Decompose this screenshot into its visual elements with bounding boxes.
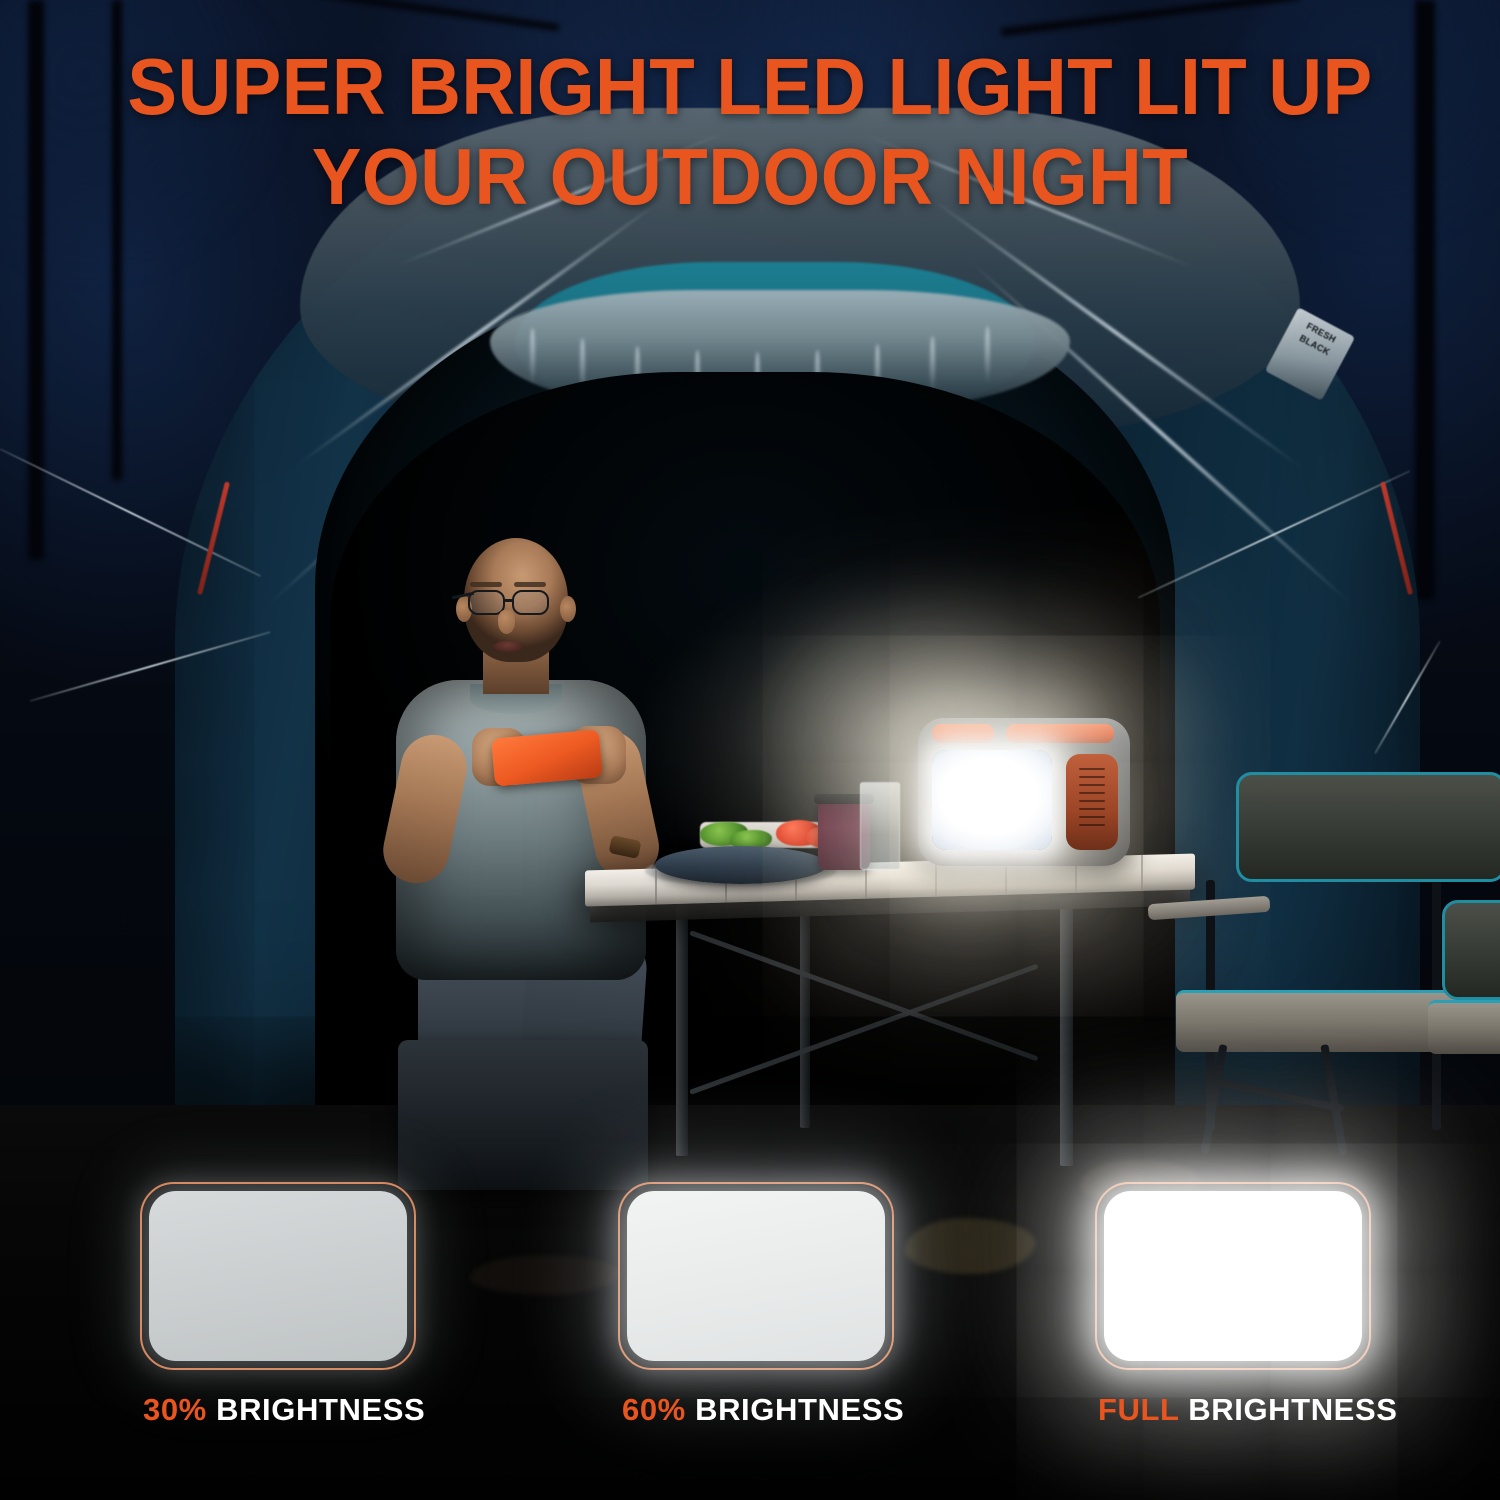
brightness-swatch-fill [1104, 1191, 1362, 1361]
table-leg [800, 898, 810, 1128]
brightness-swatch-fill [149, 1191, 407, 1361]
brightness-level-value: FULL [1098, 1392, 1179, 1427]
brightness-level-value: 60% [622, 1392, 686, 1427]
brightness-label-word: BRIGHTNESS [216, 1392, 425, 1427]
person-nose [498, 610, 515, 634]
brightness-label-60: 60% BRIGHTNESS [622, 1392, 904, 1428]
brightness-swatch-60 [618, 1182, 894, 1370]
orange-phone [491, 729, 603, 786]
lantern-top-accent [932, 724, 994, 743]
water-glass [860, 782, 900, 870]
eyeglasses-lens-right [512, 590, 549, 615]
person-mouth [493, 641, 523, 652]
dinner-plate [655, 846, 827, 884]
person-ear [560, 596, 576, 622]
camp-chair-backrest [1236, 772, 1500, 882]
table-leg [1060, 898, 1073, 1166]
lantern-led-panel [932, 750, 1052, 850]
person-eyebrow [514, 582, 546, 587]
lantern-top-accent [1006, 724, 1114, 743]
camp-chair-seat [1428, 1000, 1500, 1054]
eyeglasses-bridge [505, 599, 514, 602]
lantern-speaker-grille [1066, 754, 1118, 850]
led-camping-lantern [918, 718, 1130, 866]
brightness-label-word: BRIGHTNESS [695, 1392, 904, 1427]
camp-chair-backrest [1442, 900, 1500, 1000]
tree-trunk [28, 0, 44, 560]
brightness-swatch-30 [140, 1182, 416, 1370]
brightness-label-word: BRIGHTNESS [1188, 1392, 1397, 1427]
camp-chair-seated [398, 1040, 648, 1190]
brightness-label-30: 30% BRIGHTNESS [143, 1392, 425, 1428]
brightness-swatch-fill [627, 1191, 885, 1361]
person-eyebrow [470, 582, 502, 587]
page-title: SUPER BRIGHT LED LIGHT LIT UP YOUR OUTDO… [53, 42, 1448, 221]
brightness-swatch-full [1095, 1182, 1371, 1370]
brightness-label-full: FULL BRIGHTNESS [1098, 1392, 1398, 1428]
table-leg [676, 898, 688, 1156]
product-feature-image: FRESH BLACK [0, 0, 1500, 1500]
brightness-level-value: 30% [143, 1392, 207, 1427]
